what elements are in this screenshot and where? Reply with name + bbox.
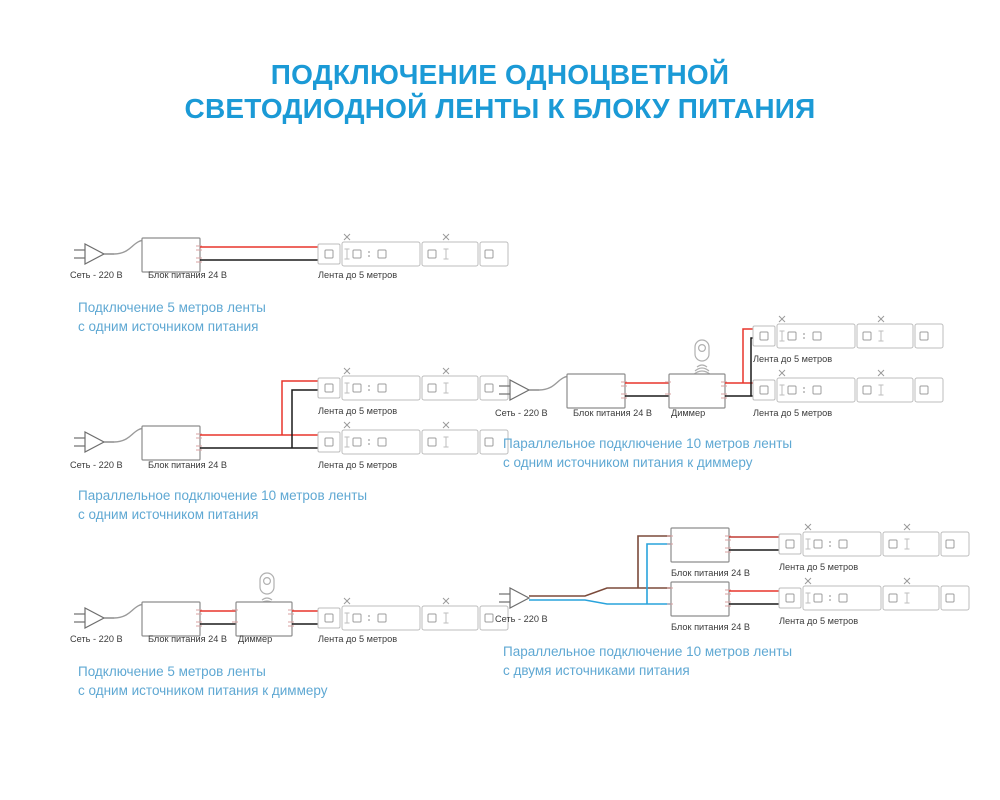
label-mains: Сеть - 220 В <box>495 614 548 624</box>
scissors-cut-mark-icon <box>443 598 449 604</box>
label-psu: Блок питания 24 В <box>573 408 652 418</box>
label-psu: Блок питания 24 В <box>148 634 227 644</box>
scissors-cut-mark-icon <box>878 370 884 376</box>
poster-root: ПОДКЛЮЧЕНИЕ ОДНОЦВЕТНОЙ СВЕТОДИОДНОЙ ЛЕН… <box>0 0 1000 800</box>
label-dimmer: Диммер <box>671 408 705 418</box>
wire-negative-upper <box>292 390 318 448</box>
diagram-5: Лента до 5 метров Блок питания 24 В Сеть… <box>495 518 935 638</box>
scissors-cut-mark-icon <box>878 316 884 322</box>
label-mains: Сеть - 220 В <box>70 270 123 280</box>
scissors-cut-mark-icon <box>805 578 811 584</box>
power-plug-icon <box>499 588 529 608</box>
psu-box-lower <box>671 582 729 616</box>
wire-positive-upper <box>282 381 318 435</box>
label-strip-lower: Лента до 5 метров <box>779 616 858 626</box>
label-strip: Лента до 5 метров <box>318 270 397 280</box>
page-title-line1: ПОДКЛЮЧЕНИЕ ОДНОЦВЕТНОЙ <box>0 58 1000 92</box>
led-strip <box>753 370 943 402</box>
label-psu: Блок питания 24 В <box>148 460 227 470</box>
scissors-cut-mark-icon <box>805 524 811 530</box>
label-dimmer: Диммер <box>238 634 272 644</box>
diagram-5-svg <box>495 518 935 638</box>
diagram-3: Сеть - 220 В Блок питания 24 В Диммер Ле… <box>70 570 490 650</box>
dimmer-box <box>236 602 292 636</box>
diagram-4-svg <box>495 318 925 430</box>
power-plug-icon <box>74 432 114 452</box>
label-mains: Сеть - 220 В <box>70 634 123 644</box>
scissors-cut-mark-icon <box>443 234 449 240</box>
scissors-cut-mark-icon <box>904 578 910 584</box>
psu-box <box>142 602 200 636</box>
page-title-line2: СВЕТОДИОДНОЙ ЛЕНТЫ К БЛОКУ ПИТАНИЯ <box>0 92 1000 126</box>
diagram-1-svg <box>70 232 490 287</box>
led-strip <box>318 234 508 266</box>
label-strip-upper: Лента до 5 метров <box>318 406 397 416</box>
scissors-cut-mark-icon <box>344 422 350 428</box>
diagram-5-caption: Параллельное подключение 10 метров ленты… <box>503 642 792 680</box>
scissors-cut-mark-icon <box>779 316 785 322</box>
power-plug-icon <box>74 244 114 264</box>
led-strip <box>779 524 969 556</box>
label-psu-upper: Блок питания 24 В <box>671 568 750 578</box>
label-strip-upper: Лента до 5 метров <box>779 562 858 572</box>
page-title: ПОДКЛЮЧЕНИЕ ОДНОЦВЕТНОЙ СВЕТОДИОДНОЙ ЛЕН… <box>0 58 1000 126</box>
label-mains: Сеть - 220 В <box>495 408 548 418</box>
psu-box <box>567 374 625 408</box>
label-strip-upper: Лента до 5 метров <box>753 354 832 364</box>
scissors-cut-mark-icon <box>344 368 350 374</box>
diagram-3-svg <box>70 570 490 650</box>
led-strip <box>318 422 508 454</box>
diagram-4-caption: Параллельное подключение 10 метров ленты… <box>503 434 792 472</box>
led-strip <box>779 578 969 610</box>
label-strip-lower: Лента до 5 метров <box>753 408 832 418</box>
wire-neutral-blue-branch <box>647 544 671 604</box>
label-mains: Сеть - 220 В <box>70 460 123 470</box>
dimmer-box <box>669 374 725 408</box>
diagram-4: Лента до 5 метров Сеть - 220 В Блок пита… <box>495 318 925 430</box>
wire-neutral-blue <box>529 600 671 604</box>
label-psu: Блок питания 24 В <box>148 270 227 280</box>
psu-box <box>142 426 200 460</box>
diagram-2: Лента до 5 метров Сеть - 220 В Блок пита… <box>70 370 490 480</box>
remote-control-icon <box>693 340 711 375</box>
label-strip: Лента до 5 метров <box>318 634 397 644</box>
scissors-cut-mark-icon <box>443 368 449 374</box>
diagram-1: Сеть - 220 В Блок питания 24 В Лента до … <box>70 232 490 287</box>
scissors-cut-mark-icon <box>443 422 449 428</box>
psu-box-upper <box>671 528 729 562</box>
scissors-cut-mark-icon <box>344 598 350 604</box>
diagram-3-caption: Подключение 5 метров ленты с одним источ… <box>78 662 327 700</box>
label-strip-lower: Лента до 5 метров <box>318 460 397 470</box>
label-psu-lower: Блок питания 24 В <box>671 622 750 632</box>
led-strip <box>318 598 508 630</box>
led-strip <box>318 368 508 400</box>
diagram-2-caption: Параллельное подключение 10 метров ленты… <box>78 486 367 524</box>
diagram-2-svg <box>70 370 490 480</box>
scissors-cut-mark-icon <box>779 370 785 376</box>
scissors-cut-mark-icon <box>344 234 350 240</box>
power-plug-icon <box>74 608 114 628</box>
psu-box <box>142 238 200 272</box>
power-plug-icon <box>499 380 539 400</box>
diagram-1-caption: Подключение 5 метров ленты с одним источ… <box>78 298 266 336</box>
scissors-cut-mark-icon <box>904 524 910 530</box>
wire-live-brown <box>529 588 671 596</box>
led-strip <box>753 316 943 348</box>
